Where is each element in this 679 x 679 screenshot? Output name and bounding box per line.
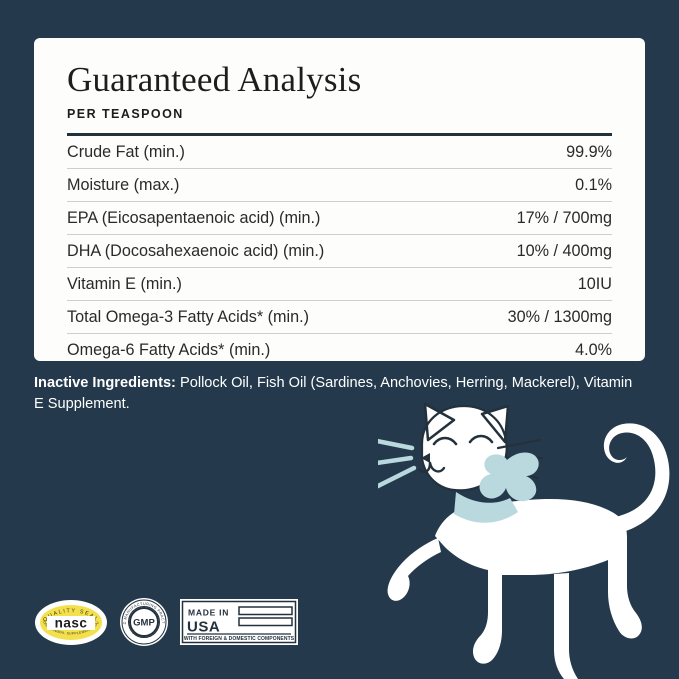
row-value: 17% / 700mg xyxy=(340,201,613,234)
row-value: 30% / 1300mg xyxy=(340,300,613,333)
svg-text:nasc: nasc xyxy=(55,615,88,630)
table-row: Vitamin E (min.) 10IU xyxy=(67,267,612,300)
page-title: Guaranteed Analysis xyxy=(67,62,612,99)
table-row: EPA (Eicosapentaenoic acid) (min.) 17% /… xyxy=(67,201,612,234)
svg-text:USA: USA xyxy=(187,619,220,636)
nutrition-table-body: Crude Fat (min.) 99.9% Moisture (max.) 0… xyxy=(67,136,612,366)
row-label: Omega-6 Fatty Acids* (min.) xyxy=(67,333,340,366)
nasc-quality-seal-icon: QUALITY SEAL NATIONAL ANIMAL SUPPLEMENT … xyxy=(34,599,108,646)
gmp-seal-icon: GOOD MANUFACTURING PRACTICES PRODUCT GMP xyxy=(119,597,169,647)
row-label: EPA (Eicosapentaenoic acid) (min.) xyxy=(67,201,340,234)
row-value: 4.0% xyxy=(340,333,613,366)
row-label: Vitamin E (min.) xyxy=(67,267,340,300)
row-label: Moisture (max.) xyxy=(67,168,340,201)
cat-tail-icon xyxy=(604,423,670,534)
table-row: Total Omega-3 Fatty Acids* (min.) 30% / … xyxy=(67,300,612,333)
cat-rear-leg-icon xyxy=(554,573,578,679)
cat-body-icon xyxy=(435,499,642,664)
row-value: 99.9% xyxy=(340,136,613,169)
svg-text:MADE IN: MADE IN xyxy=(188,608,229,618)
table-row: Crude Fat (min.) 99.9% xyxy=(67,136,612,169)
panel-subtitle: PER TEASPOON xyxy=(67,107,612,121)
nutrition-table: Crude Fat (min.) 99.9% Moisture (max.) 0… xyxy=(67,136,612,366)
made-in-usa-seal-icon: MADE IN USA WITH FOREIGN & DOMESTIC COMP… xyxy=(180,599,298,645)
table-row: Moisture (max.) 0.1% xyxy=(67,168,612,201)
cat-eyes-closed-icon xyxy=(434,436,492,444)
svg-text:GMP: GMP xyxy=(133,618,155,629)
inactive-ingredients-heading: Inactive Ingredients: xyxy=(34,375,176,391)
cat-illustration xyxy=(378,400,679,679)
row-label: Crude Fat (min.) xyxy=(67,136,340,169)
cat-head-icon xyxy=(422,406,507,490)
cat-front-leg-icon xyxy=(388,538,441,601)
row-value: 10% / 400mg xyxy=(340,234,613,267)
certification-badges: QUALITY SEAL NATIONAL ANIMAL SUPPLEMENT … xyxy=(34,597,298,647)
whiskers-left-icon xyxy=(378,440,414,488)
cat-scarf-icon xyxy=(454,492,518,523)
inactive-ingredients: Inactive Ingredients: Pollock Oil, Fish … xyxy=(34,373,634,415)
label-panel-root: Guaranteed Analysis PER TEASPOON Crude F… xyxy=(0,0,679,679)
row-value: 10IU xyxy=(340,267,613,300)
whiskers-right-icon xyxy=(496,440,542,478)
guaranteed-analysis-card: Guaranteed Analysis PER TEASPOON Crude F… xyxy=(34,38,645,361)
row-value: 0.1% xyxy=(340,168,613,201)
row-label: Total Omega-3 Fatty Acids* (min.) xyxy=(67,300,340,333)
table-row: DHA (Docosahexaenoic acid) (min.) 10% / … xyxy=(67,234,612,267)
cat-bow-icon xyxy=(480,453,539,502)
svg-text:WITH FOREIGN & DOMESTIC COMPON: WITH FOREIGN & DOMESTIC COMPONENTS xyxy=(184,636,295,642)
row-label: DHA (Docosahexaenoic acid) (min.) xyxy=(67,234,340,267)
table-row: Omega-6 Fatty Acids* (min.) 4.0% xyxy=(67,333,612,366)
cat-nose-mouth-icon xyxy=(420,453,444,472)
cat-head-outline-icon xyxy=(422,406,507,490)
